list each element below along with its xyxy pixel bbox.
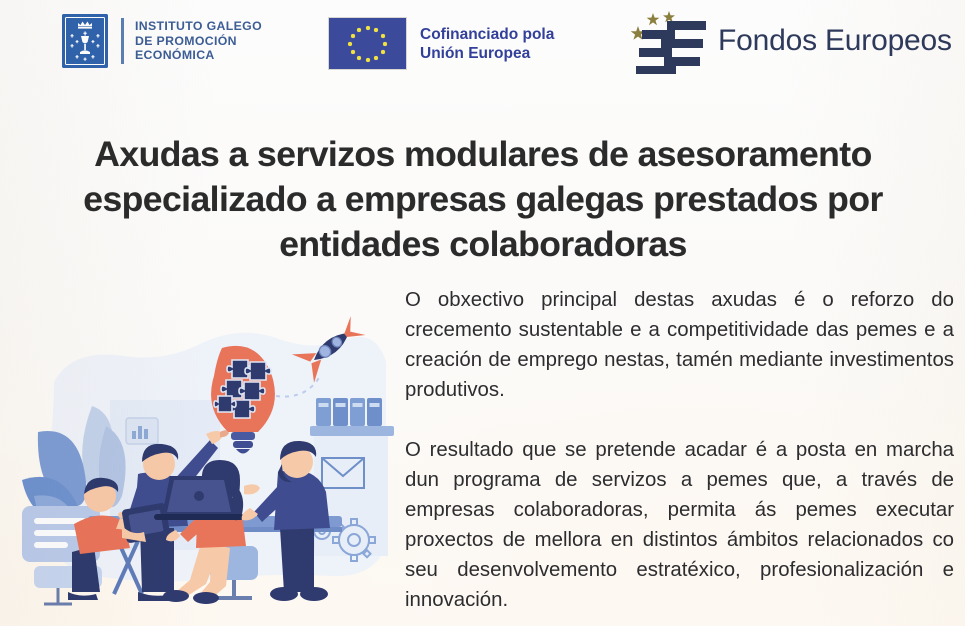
fondos-europeos-bars-icon xyxy=(620,8,712,74)
team-brainstorming-illustration xyxy=(14,300,396,618)
logo-igape-label: INSTITUTO GALEGO DE PROMOCIÓN ECONÓMICA xyxy=(135,19,262,62)
body-text-column: O obxectivo principal destas axudas é o … xyxy=(405,285,954,615)
logo-fondos-label: Fondos Europeos xyxy=(718,24,952,58)
flyer-page: INSTITUTO GALEGO DE PROMOCIÓN ECONÓMICA … xyxy=(0,0,965,626)
logo-fondos-europeos: Fondos Europeos xyxy=(620,8,952,74)
paragraph-result: O resultado que se pretende acadar é a p… xyxy=(405,435,954,615)
header-logo-bar: INSTITUTO GALEGO DE PROMOCIÓN ECONÓMICA … xyxy=(0,0,965,90)
page-title: Axudas a servizos modulares de asesorame… xyxy=(38,132,928,267)
logo-european-union: Cofinanciado pola Unión Europea xyxy=(328,17,554,70)
logo-divider xyxy=(121,18,124,64)
logo-igape: INSTITUTO GALEGO DE PROMOCIÓN ECONÓMICA xyxy=(62,14,262,68)
logo-eu-label: Cofinanciado pola Unión Europea xyxy=(420,25,554,63)
paragraph-objective: O obxectivo principal destas axudas é o … xyxy=(405,285,954,405)
eu-flag-icon xyxy=(328,17,407,70)
xunta-de-galicia-coat-of-arms-icon xyxy=(62,14,108,68)
